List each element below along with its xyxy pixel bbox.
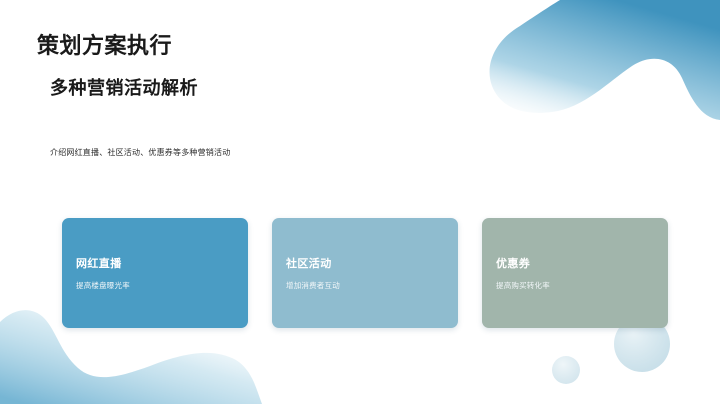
card-coupon[interactable]: 优惠券 提高购买转化率 <box>482 218 668 328</box>
card-community-event[interactable]: 社区活动 增加消费者互动 <box>272 218 458 328</box>
card-title: 网红直播 <box>76 255 234 271</box>
card-description: 提高楼盘曝光率 <box>76 280 234 291</box>
page-title: 策划方案执行 <box>37 28 172 60</box>
page-subtitle: 多种营销活动解析 <box>50 74 198 100</box>
card-title: 优惠券 <box>496 255 654 271</box>
card-list: 网红直播 提高楼盘曝光率 社区活动 增加消费者互动 优惠券 提高购买转化率 <box>62 218 668 328</box>
decorative-background <box>0 0 720 404</box>
page-description: 介绍网红直播、社区活动、优惠券等多种营销活动 <box>50 147 230 158</box>
bottom-right-circle-small <box>552 356 580 384</box>
card-title: 社区活动 <box>286 255 444 271</box>
card-description: 提高购买转化率 <box>496 280 654 291</box>
top-right-wave-shape <box>490 0 720 120</box>
card-description: 增加消费者互动 <box>286 280 444 291</box>
card-livestream[interactable]: 网红直播 提高楼盘曝光率 <box>62 218 248 328</box>
decorative-shapes-svg <box>0 0 720 404</box>
slide-canvas: 策划方案执行 多种营销活动解析 介绍网红直播、社区活动、优惠券等多种营销活动 网… <box>0 0 720 404</box>
